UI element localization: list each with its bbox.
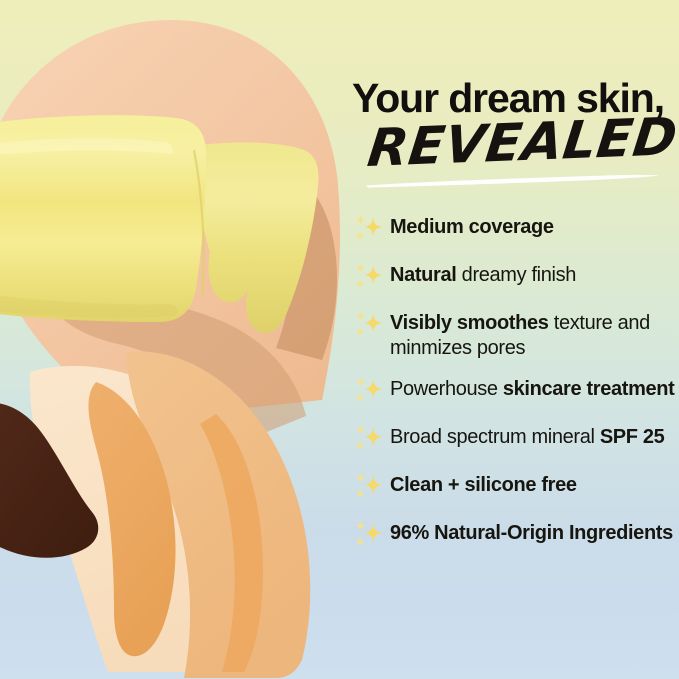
bullet-body: Powerhouse	[390, 378, 503, 400]
headline-block: Your dream skin, REVEALED	[352, 76, 676, 184]
sparkles-icon	[352, 309, 386, 343]
feature-bullet-text: Natural dreamy finish	[390, 260, 576, 288]
feature-bullet-text: 96% Natural-Origin Ingredients	[390, 518, 673, 546]
feature-bullet-text: Medium coverage	[390, 212, 554, 240]
feature-bullet: 96% Natural-Origin Ingredients	[352, 518, 679, 553]
bullet-emphasis: Natural	[390, 264, 456, 286]
text-panel: Your dream skin, REVEALED Medium coverag…	[348, 0, 679, 679]
sparkles-icon	[352, 519, 386, 553]
product-feature-image: Your dream skin, REVEALED Medium coverag…	[0, 0, 679, 679]
sparkles-icon	[352, 261, 386, 295]
feature-bullet-text: Clean + silicone free	[390, 470, 577, 498]
bullet-emphasis: skincare treatment	[503, 378, 675, 400]
bullet-emphasis: Clean + silicone free	[390, 474, 577, 496]
feature-bullet: Clean + silicone free	[352, 470, 679, 505]
feature-bullet: Natural dreamy finish	[352, 260, 679, 295]
product-artwork	[0, 0, 360, 679]
bullet-body: dreamy finish	[456, 264, 576, 286]
sparkles-icon	[352, 375, 386, 409]
feature-bullet-text: Broad spectrum mineral SPF 25	[390, 422, 664, 450]
sparkles-icon	[352, 423, 386, 457]
bullet-emphasis: 96% Natural-Origin Ingredients	[390, 522, 673, 544]
sparkles-icon	[352, 471, 386, 505]
feature-bullet: Visibly smoothes texture and minmizes po…	[352, 308, 679, 361]
bullet-emphasis: Visibly smoothes	[390, 312, 549, 334]
feature-bullet: Medium coverage	[352, 212, 679, 247]
bullet-emphasis: SPF 25	[600, 426, 665, 448]
headline-script-block: REVEALED	[352, 118, 676, 184]
feature-bullet: Broad spectrum mineral SPF 25	[352, 422, 679, 457]
sparkles-icon	[352, 213, 386, 247]
feature-bullet: Powerhouse skincare treatment	[352, 374, 679, 409]
bullet-body: Broad spectrum mineral	[390, 426, 600, 448]
headline-line-2: REVEALED	[365, 108, 679, 178]
bullet-emphasis: Medium coverage	[390, 216, 554, 238]
feature-bullet-text: Powerhouse skincare treatment	[390, 374, 674, 402]
feature-bullet-list: Medium coverage Natural dreamy finish Vi…	[352, 212, 679, 566]
feature-bullet-text: Visibly smoothes texture and minmizes po…	[390, 308, 679, 361]
